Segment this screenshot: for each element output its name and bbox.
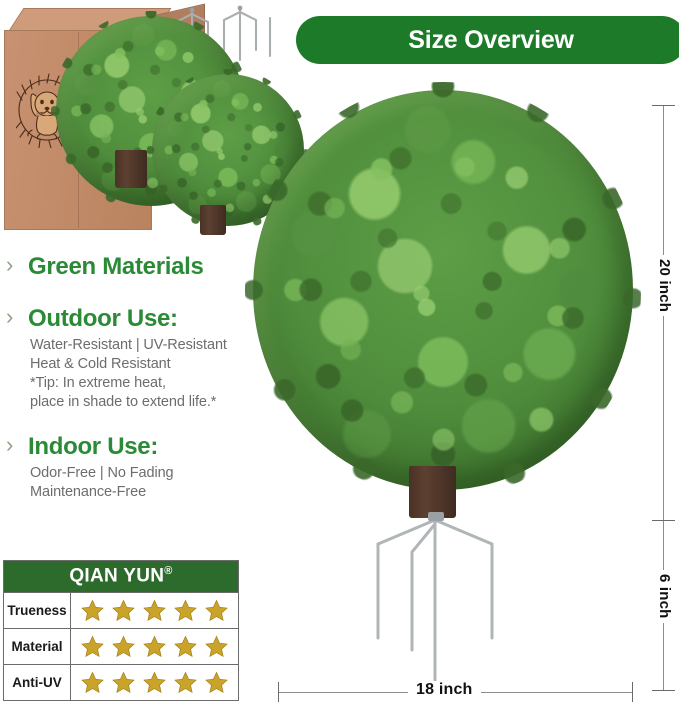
dimension-tick-right xyxy=(632,682,633,702)
star-icon xyxy=(112,671,135,694)
ratings-table-header: QIAN YUN® xyxy=(4,561,238,592)
topiary-leaf-fringe xyxy=(245,82,641,498)
table-row: Material xyxy=(4,628,238,664)
table-row: Anti-UV xyxy=(4,664,238,700)
topiary-pot-right xyxy=(200,205,226,235)
star-icon xyxy=(112,599,135,622)
feature-body-line: Heat & Cold Resistant xyxy=(30,355,266,374)
star-icon xyxy=(205,599,228,622)
chevron-right-icon: › xyxy=(6,432,28,458)
registered-trademark-icon: ® xyxy=(164,565,172,577)
star-icon xyxy=(174,635,197,658)
product-infographic: Size Overview xyxy=(0,0,679,705)
dimension-label-width: 18 inch xyxy=(408,681,481,699)
rating-stars-trueness xyxy=(71,593,238,628)
rating-stars-material xyxy=(71,629,238,664)
feature-green-materials: › Green Materials xyxy=(6,252,266,282)
star-icon xyxy=(143,671,166,694)
star-icon xyxy=(81,671,104,694)
dimension-label-stake: 6 inch xyxy=(656,570,673,623)
feature-body-line: Odor-Free | No Fading xyxy=(30,464,266,483)
feature-outdoor-body: Water-Resistant | UV-Resistant Heat & Co… xyxy=(30,336,266,412)
feature-heading: Outdoor Use: xyxy=(28,304,178,334)
brand-name: QIAN YUN xyxy=(69,565,164,586)
topiary-pot-left xyxy=(115,150,147,188)
topiary-ball-main xyxy=(253,90,633,490)
chevron-right-icon: › xyxy=(6,252,28,278)
star-icon xyxy=(205,635,228,658)
chevron-right-icon: › xyxy=(6,304,28,330)
star-icon xyxy=(81,599,104,622)
feature-outdoor-use: › Outdoor Use: xyxy=(6,304,266,334)
feature-list: › Green Materials › Outdoor Use: Water-R… xyxy=(6,252,266,502)
ground-stake-main-icon xyxy=(350,510,520,690)
rating-label: Anti-UV xyxy=(4,665,71,700)
star-icon xyxy=(81,635,104,658)
feature-body-line: place in shade to extend life.* xyxy=(30,393,266,412)
size-overview-banner-label: Size Overview xyxy=(408,26,574,55)
feature-body-line: Water-Resistant | UV-Resistant xyxy=(30,336,266,355)
feature-indoor-body: Odor-Free | No Fading Maintenance-Free xyxy=(30,464,266,502)
star-icon xyxy=(205,671,228,694)
feature-heading: Green Materials xyxy=(28,252,204,282)
star-icon xyxy=(174,671,197,694)
rating-label: Trueness xyxy=(4,593,71,628)
feature-body-line: Maintenance-Free xyxy=(30,483,266,502)
feature-heading: Indoor Use: xyxy=(28,432,158,462)
rating-stars-anti-uv xyxy=(71,665,238,700)
dimension-tick-middle xyxy=(652,520,675,521)
feature-body-line: *Tip: In extreme heat, xyxy=(30,374,266,393)
feature-indoor-use: › Indoor Use: xyxy=(6,432,266,462)
star-icon xyxy=(143,635,166,658)
dimension-tick-bottom xyxy=(652,690,675,691)
brand-ratings-table: QIAN YUN® Trueness Material Ant xyxy=(3,560,239,701)
rating-label: Material xyxy=(4,629,71,664)
size-overview-banner: Size Overview xyxy=(296,16,679,64)
dimension-tick-top xyxy=(652,105,675,106)
dimension-label-height: 20 inch xyxy=(656,255,673,316)
star-icon xyxy=(112,635,135,658)
star-icon xyxy=(143,599,166,622)
star-icon xyxy=(174,599,197,622)
dimension-tick-left xyxy=(278,682,279,702)
table-row: Trueness xyxy=(4,592,238,628)
